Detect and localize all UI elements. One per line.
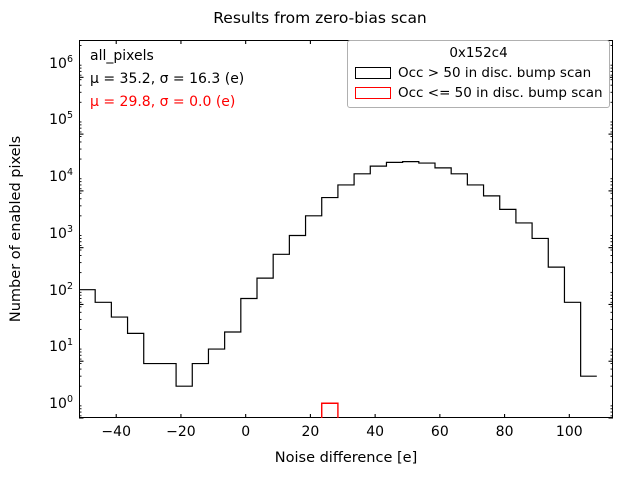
annotation-stats-black: μ = 35.2, σ = 16.3 (e)	[90, 68, 340, 91]
figure: Results from zero-bias scan Number of en…	[0, 0, 640, 480]
x-tick-label: 100	[556, 424, 583, 440]
y-tick-label: 104	[49, 167, 73, 185]
x-tick-label: 60	[431, 424, 449, 440]
x-tick-label: 40	[366, 424, 384, 440]
annotation-block: all_pixels μ = 35.2, σ = 16.3 (e) μ = 29…	[90, 45, 340, 114]
legend-item-occ-le-50[interactable]: Occ <= 50 in disc. bump scan	[353, 83, 604, 103]
legend-label-occ-gt-50: Occ > 50 in disc. bump scan	[398, 65, 591, 81]
x-tick-label: −20	[166, 424, 196, 440]
y-tick-label: 105	[49, 111, 73, 129]
legend-label-occ-le-50: Occ <= 50 in disc. bump scan	[398, 85, 603, 101]
x-axis-label: Noise difference [e]	[79, 450, 613, 466]
x-tick-label: 0	[241, 424, 250, 440]
legend-title: 0x152c4	[353, 44, 604, 63]
legend-item-occ-gt-50[interactable]: Occ > 50 in disc. bump scan	[353, 63, 604, 83]
legend-key-red-icon	[355, 87, 391, 99]
chart-title: Results from zero-bias scan	[0, 8, 640, 28]
y-tick-label: 101	[49, 338, 73, 356]
y-tick-label: 102	[49, 281, 73, 299]
legend: 0x152c4 Occ > 50 in disc. bump scan Occ …	[347, 40, 610, 108]
x-tick-label: 20	[301, 424, 319, 440]
annotation-dataset-name: all_pixels	[90, 45, 340, 68]
y-axis-tick-labels: 100101102103104105106	[0, 40, 73, 418]
x-tick-label: −40	[101, 424, 131, 440]
histogram-step-occ-le-50	[322, 403, 338, 418]
x-tick-label: 80	[496, 424, 514, 440]
y-tick-label: 106	[49, 54, 73, 72]
y-tick-label: 103	[49, 224, 73, 242]
histogram-step-occ-gt-50	[79, 162, 597, 387]
annotation-stats-red: μ = 29.8, σ = 0.0 (e)	[90, 91, 340, 114]
legend-key-black-icon	[355, 67, 391, 79]
y-tick-label: 100	[49, 394, 73, 412]
